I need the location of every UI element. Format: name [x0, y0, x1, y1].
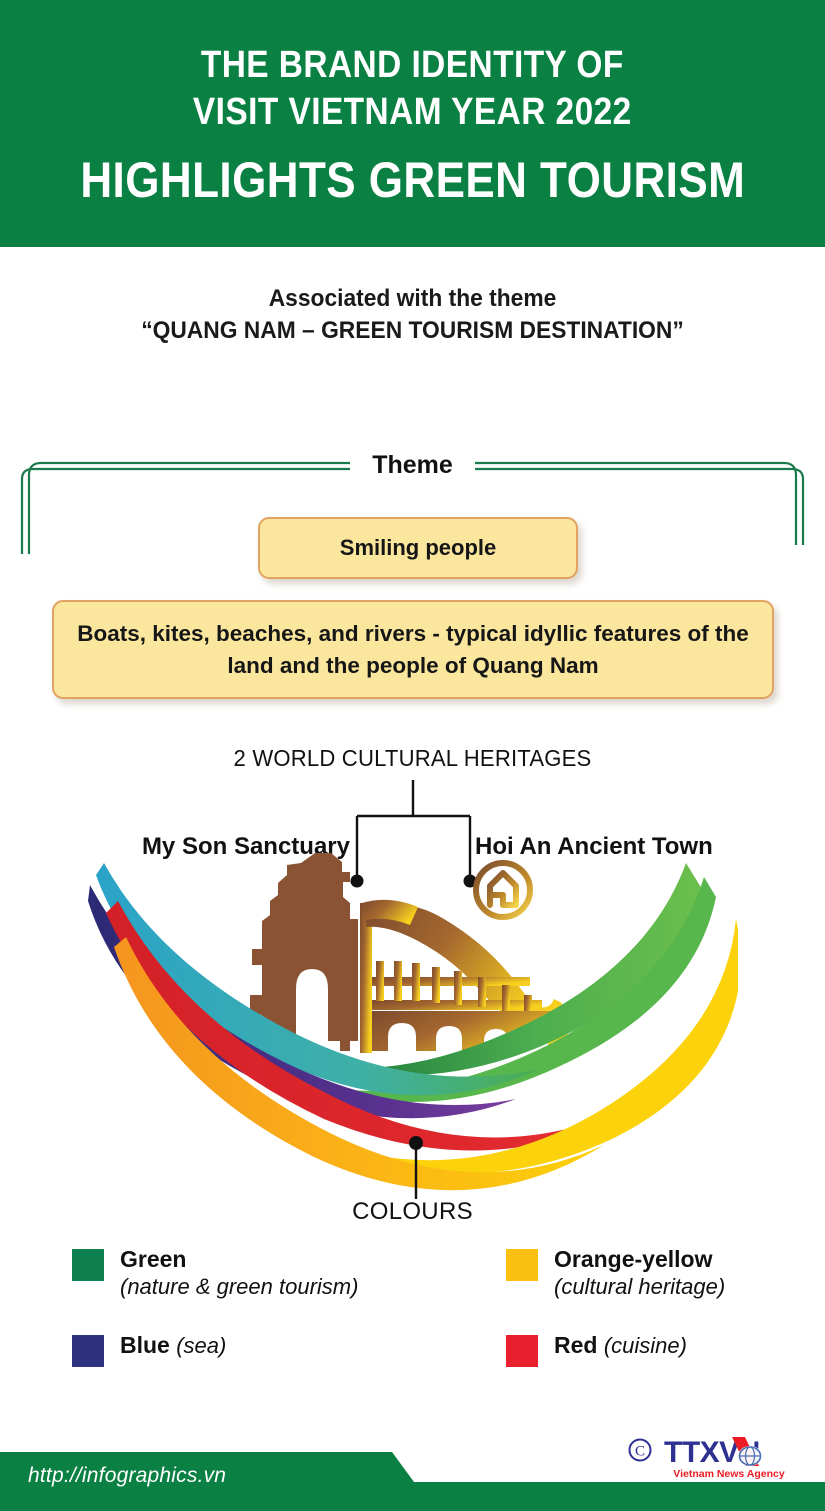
legend-desc-red: (cuisine): [604, 1333, 687, 1358]
legend-item-red: Red (cuisine): [506, 1332, 687, 1367]
svg-text:C: C: [635, 1444, 645, 1460]
swatch-orange-yellow: [506, 1249, 538, 1281]
legend-desc-orange-yellow: (cultural heritage): [554, 1273, 725, 1301]
subtitle-block: Associated with the theme “QUANG NAM – G…: [0, 283, 825, 347]
legend-item-green: Green (nature & green tourism): [72, 1246, 358, 1301]
header-title-line2: VISIT VIETNAM YEAR 2022: [193, 89, 632, 136]
theme-box-smiling-people: Smiling people: [258, 517, 578, 579]
copyright-icon: C: [630, 1440, 651, 1461]
heritage-title: 2 WORLD CULTURAL HERITAGES: [17, 745, 809, 772]
legend-name-orange-yellow: Orange-yellow: [554, 1246, 725, 1273]
subtitle-line2: “QUANG NAM – GREEN TOURISM DESTINATION”: [21, 314, 805, 347]
hoi-an-emblem-icon: [476, 863, 530, 917]
legend-name-red-text: Red: [554, 1332, 597, 1358]
legend-item-blue: Blue (sea): [72, 1332, 226, 1367]
colours-label: COLOURS: [0, 1198, 825, 1226]
theme-label: Theme: [0, 450, 825, 480]
legend-name-green: Green: [120, 1246, 358, 1273]
legend-desc-green: (nature & green tourism): [120, 1273, 358, 1301]
swatch-red: [506, 1335, 538, 1367]
infographic-page: THE BRAND IDENTITY OF VISIT VIETNAM YEAR…: [0, 0, 825, 1511]
header-banner: THE BRAND IDENTITY OF VISIT VIETNAM YEAR…: [0, 0, 825, 247]
swatch-green: [72, 1249, 104, 1281]
legend-item-orange-yellow: Orange-yellow (cultural heritage): [506, 1246, 725, 1301]
swatch-blue: [72, 1335, 104, 1367]
subtitle-line1: Associated with the theme: [21, 283, 805, 314]
header-title-line3: HIGHLIGHTS GREEN TOURISM: [80, 147, 745, 213]
colour-legend: Green (nature & green tourism) Orange-ye…: [0, 1246, 825, 1391]
ttxvn-logo: C TTXVN Vietnam News Agency: [628, 1432, 813, 1480]
theme-box-boats-kites: Boats, kites, beaches, and rivers - typi…: [52, 600, 774, 699]
legend-name-blue-text: Blue: [120, 1332, 170, 1358]
footer-url[interactable]: http://infographics.vn: [28, 1464, 226, 1488]
svg-text:Vietnam News Agency: Vietnam News Agency: [673, 1468, 785, 1480]
header-title-line1: THE BRAND IDENTITY OF: [201, 42, 624, 89]
legend-desc-blue: (sea): [176, 1333, 226, 1358]
legend-name-red: Red (cuisine): [554, 1332, 687, 1359]
legend-name-blue: Blue (sea): [120, 1332, 226, 1359]
